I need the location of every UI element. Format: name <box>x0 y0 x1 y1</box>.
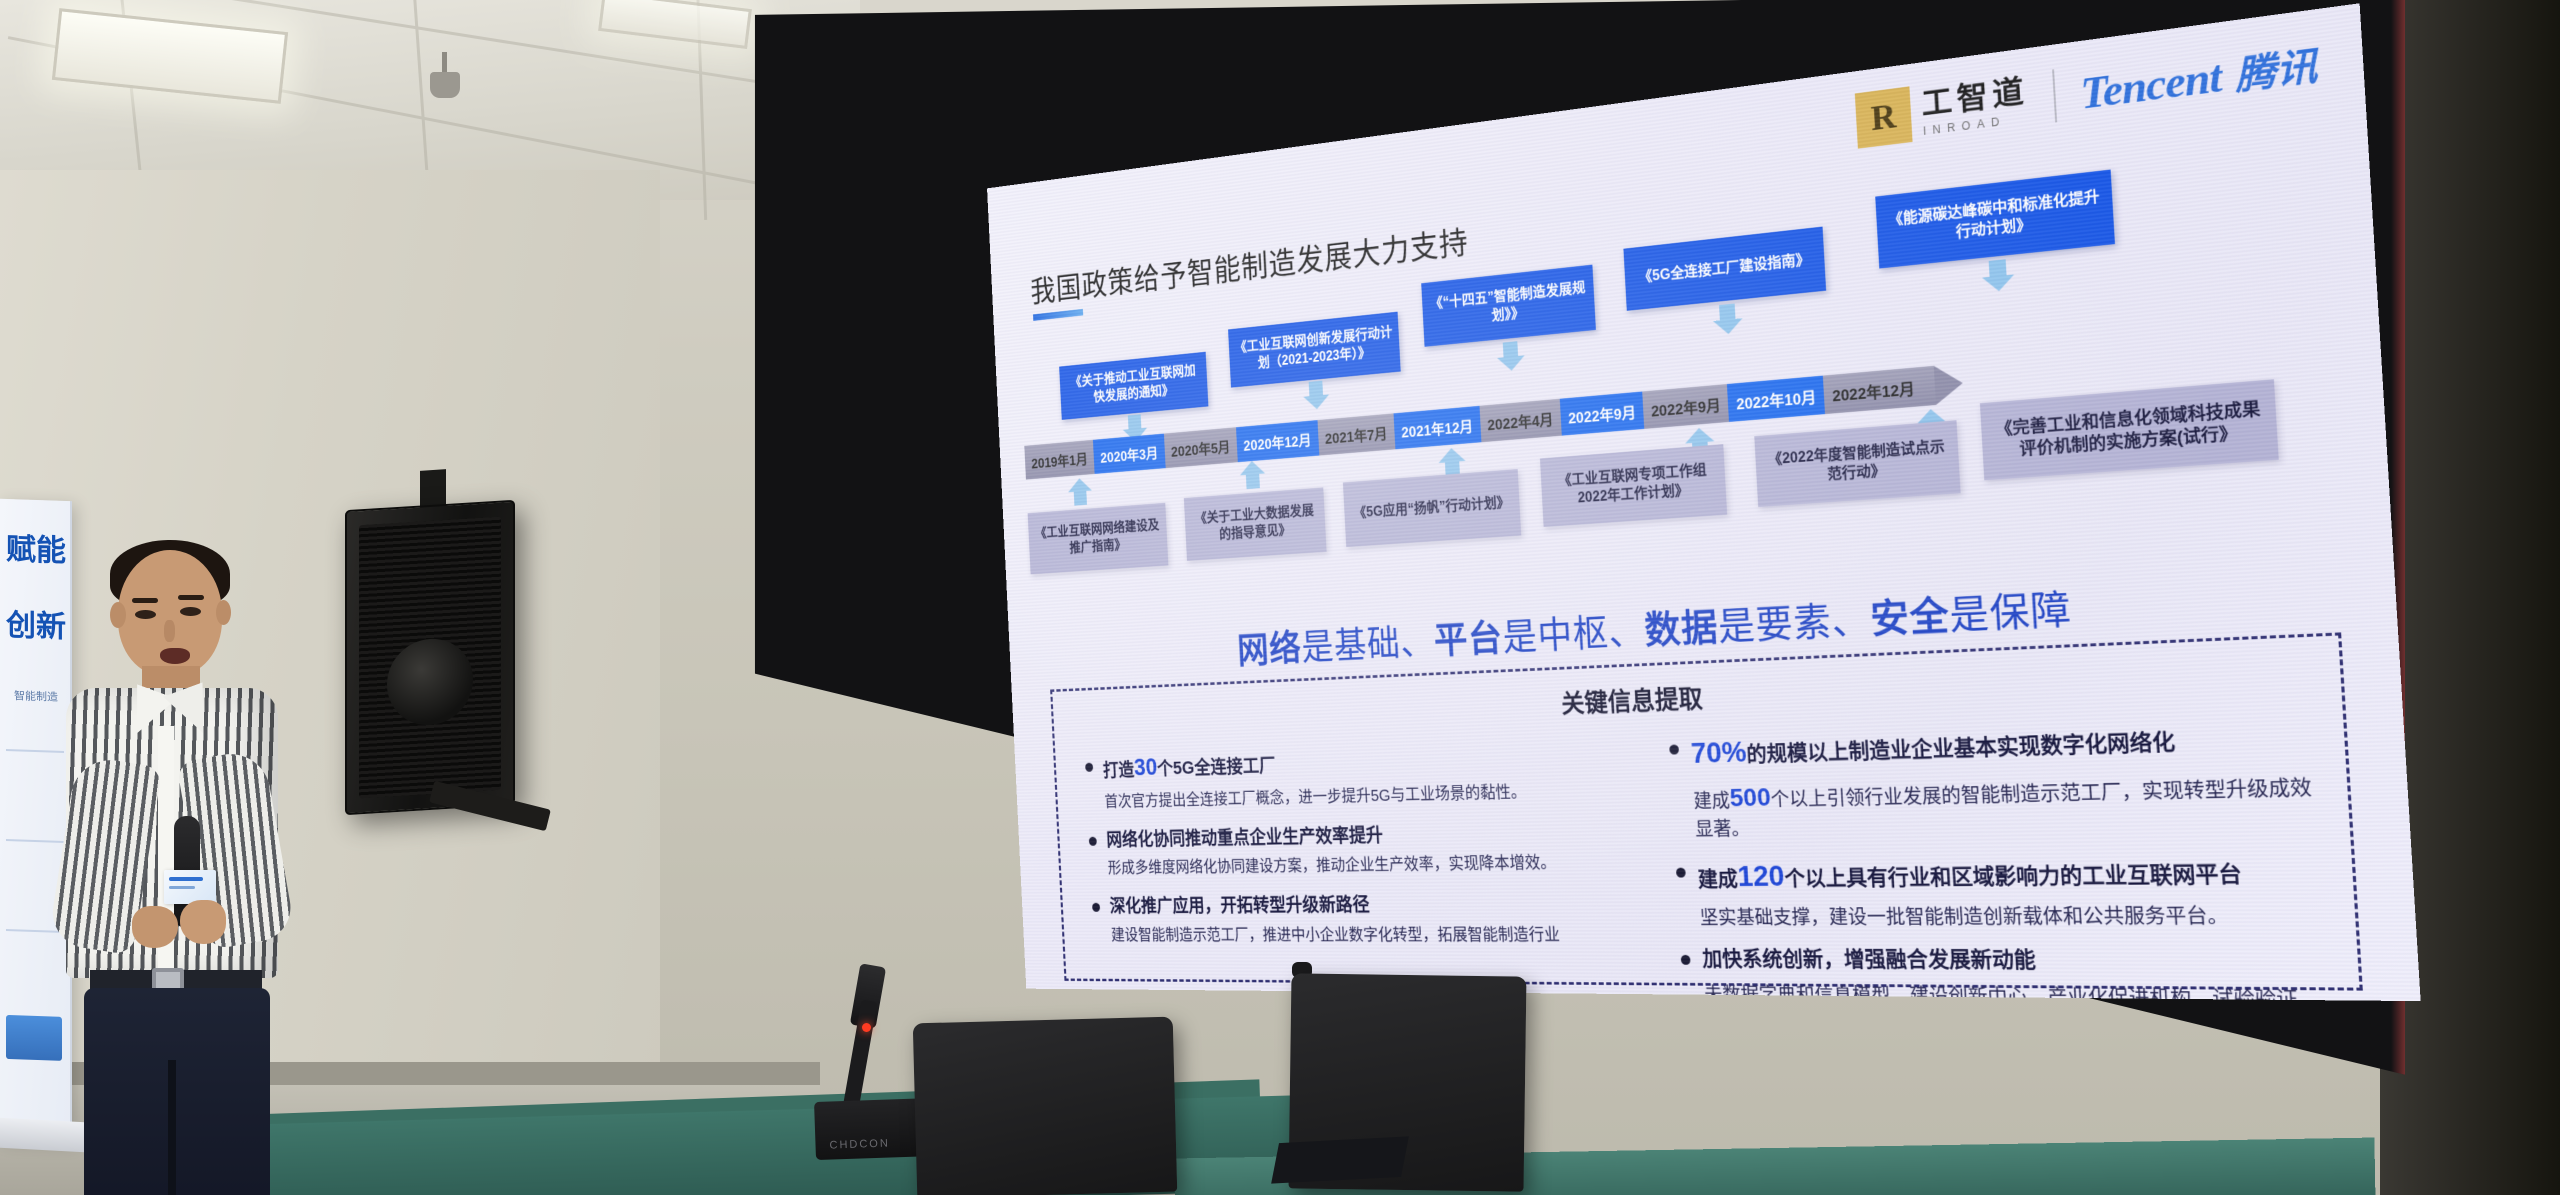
presenter-ear-right <box>216 600 231 625</box>
key-info-bullet: 打造30个5G全连接工厂 <box>1085 737 1610 786</box>
ceiling-sensor <box>430 72 460 98</box>
timeline-top-card: 《关于推动工业互联网加快发展的通知》 <box>1059 352 1208 420</box>
bullet-subtext: 坚实基础支撑，建设一批智能制造创新载体和公共服务平台。 <box>1699 901 2324 931</box>
timeline-date-segment: 2020年5月 <box>1164 427 1238 468</box>
timeline-date-segment: 2020年3月 <box>1093 434 1165 474</box>
presenter-eye-left <box>135 610 156 619</box>
bullet-heading-post: 个以上具有行业和区域影响力的工业互联网平台 <box>1784 861 2243 890</box>
tencent-logo-cn: 腾讯 <box>2233 34 2318 101</box>
timeline-date-segment: 2021年12月 <box>1393 406 1481 449</box>
timeline-date-segment: 2022年9月 <box>1560 391 1645 435</box>
logo-divider <box>2052 69 2057 122</box>
bullet-dot-icon <box>1676 867 1686 877</box>
bullet-heading-pre: 建成 <box>1697 867 1738 891</box>
timeline-top-cards: 《关于推动工业互联网加快发展的通知》 《工业互联网创新发展行动计划（2021-2… <box>1017 156 2342 425</box>
bullet-dot-icon <box>1669 744 1679 754</box>
presenter-trouser-seam <box>168 1060 176 1195</box>
headline-text-2: 是中枢、 <box>1502 610 1646 658</box>
presenter-brow-left <box>132 598 158 603</box>
timeline-date-segment: 2020年12月 <box>1236 420 1319 462</box>
policy-timeline: 《关于推动工业互联网加快发展的通知》 《工业互联网创新发展行动计划（2021-2… <box>1017 156 2356 618</box>
headline-text-4: 是保障 <box>1948 587 2073 637</box>
slide-logo-bar: R 工智道 INROAD Tencent 腾讯 <box>1855 33 2319 149</box>
presenter-trousers <box>84 988 270 1195</box>
key-info-bullet: 加快系统创新，增强融合发展新动能 <box>1680 945 2327 977</box>
timeline-arrow-down-icon <box>1981 258 2015 292</box>
bullet-dot-icon <box>1681 955 1691 965</box>
bullet-subtext-number: 500 <box>1729 783 1771 812</box>
laptop <box>1271 1136 1409 1183</box>
bullet-subtext-pre: 建成 <box>1693 790 1730 812</box>
headline-key-3: 数据 <box>1644 606 1720 652</box>
microphone-brand-label: CHDCON <box>829 1137 890 1151</box>
bullet-heading: 深化推广应用，开拓转型升级新路径 <box>1109 892 1370 918</box>
bullet-heading-number: 70% <box>1690 735 1747 769</box>
timeline-date-segment: 2019年1月 <box>1024 440 1094 480</box>
key-info-box: 关键信息提取 打造30个5G全连接工厂 首次官方提出全连接工厂概念，进一步提升5… <box>1050 632 2363 990</box>
bullet-heading-number: 30 <box>1133 754 1157 781</box>
bullet-heading: 网络化协同推动重点企业生产效率提升 <box>1106 822 1384 852</box>
timeline-arrow-down-icon <box>1712 303 1743 336</box>
bullet-dot-icon <box>1085 763 1093 772</box>
right-dark-wall <box>2380 0 2560 1195</box>
timeline-top-card: 《工业互联网创新发展行动计划（2021-2023年）》 <box>1228 312 1401 388</box>
timeline-bottom-card: 《工业互联网专项工作组2022年工作计划》 <box>1540 444 1727 527</box>
presenter-hand-left <box>132 906 178 948</box>
led-screen[interactable]: R 工智道 INROAD Tencent 腾讯 我国政策给予智能制造发展大力支持 <box>760 0 2390 1120</box>
timeline-bottom-card: 《工业互联网网络建设及推广指南》 <box>1028 503 1169 574</box>
bullet-subtext-post: 个以上引领行业发展的智能制造示范工厂，实现转型升级成效显著。 <box>1695 777 2313 840</box>
bullet-subtext: 首次官方提出全连接工厂概念，进一步提升5G与工业场景的黏性。 <box>1104 780 1611 815</box>
tencent-logo: Tencent 腾讯 <box>2079 34 2319 120</box>
bullet-heading-post: 的规模以上制造业企业基本实现数字化网络化 <box>1746 729 2176 766</box>
key-info-bullet: 建成120个以上具有行业和区域影响力的工业互联网平台 <box>1675 849 2322 896</box>
key-info-bullet: 网络化协同推动重点企业生产效率提升 <box>1088 817 1613 851</box>
bullet-heading-pre: 打造 <box>1103 759 1135 780</box>
presentation-room-photo: 赋能 创新 智能制造 R 工智道 INROAD <box>0 0 2560 1195</box>
presenter-ear-left <box>110 602 126 628</box>
headline-key-1: 网络 <box>1236 628 1302 671</box>
timeline-date-segment: 2022年12月 <box>1823 366 1936 414</box>
bullet-dot-icon <box>1092 903 1100 912</box>
timeline-top-card: 《5G全连接工厂建设指南》 <box>1623 227 1826 311</box>
timeline-date-segment: 2022年9月 <box>1642 384 1729 429</box>
inroad-logo: R 工智道 INROAD <box>1855 71 2031 149</box>
timeline-date-segment: 2022年10月 <box>1727 376 1825 422</box>
timeline-date-segment: 2022年4月 <box>1479 399 1561 442</box>
bullet-heading-number: 120 <box>1737 859 1786 892</box>
microphone-logo-flag <box>164 870 216 904</box>
timeline-top-card: 《能源碳达峰碳中和标准化提升行动计划》 <box>1875 170 2115 269</box>
bullet-heading: 打造30个5G全连接工厂 <box>1102 748 1276 786</box>
timeline-bottom-card: 《2022年度智能制造试点示范行动》 <box>1754 420 1960 507</box>
presenter-nose <box>164 620 175 642</box>
headline-key-2: 平台 <box>1433 617 1504 661</box>
presenter-hand-right <box>180 900 226 944</box>
bullet-subtext: 建设智能制造示范工厂，推进中小企业数字化转型，拓展智能制造行业 <box>1111 924 1620 948</box>
presenter <box>40 540 300 1195</box>
bullet-heading: 加快系统创新，增强融合发展新动能 <box>1702 945 2037 975</box>
key-info-left-column: 打造30个5G全连接工厂 首次官方提出全连接工厂概念，进一步提升5G与工业场景的… <box>1055 731 1648 1001</box>
bullet-subtext: 形成多维度网络化协同建设方案，推动企业生产效率，实现降本增效。 <box>1107 852 1615 881</box>
timeline-bottom-card: 《关于工业大数据发展的指导意见》 <box>1184 487 1327 560</box>
key-info-bullet: 深化推广应用，开拓转型升级新路径 <box>1092 890 1618 918</box>
headline-text-1: 是基础、 <box>1300 621 1435 668</box>
microphone-status-led <box>862 1023 871 1032</box>
timeline-top-card: 《“十四五”智能制造发展规划》》 <box>1421 265 1596 347</box>
bullet-heading-post: 个5G全连接工厂 <box>1157 754 1276 778</box>
presentation-slide: R 工智道 INROAD Tencent 腾讯 我国政策给予智能制造发展大力支持 <box>987 3 2421 1001</box>
wall-speaker <box>345 500 515 815</box>
inroad-logo-cn: 工智道 <box>1921 75 2030 120</box>
presenter-mouth <box>160 648 190 664</box>
bullet-subtext: 未数据字典和信息模型，建设创新中心、产业化促进机构、试验验证 <box>1704 982 2330 1002</box>
timeline-arrow-down-icon <box>1303 380 1330 410</box>
tencent-logo-en: Tencent <box>2079 51 2222 120</box>
chair <box>913 1017 1177 1195</box>
key-info-bullet: 70%的规模以上制造业企业基本实现数字化网络化 <box>1669 714 2315 774</box>
presenter-brow-right <box>178 595 204 600</box>
bullet-heading: 70%的规模以上制造业企业基本实现数字化网络化 <box>1690 718 2176 773</box>
presenter-eye-right <box>180 607 201 616</box>
bullet-heading: 建成120个以上具有行业和区域影响力的工业互联网平台 <box>1697 850 2243 896</box>
bullet-subtext: 建成500个以上引领行业发展的智能制造示范工厂，实现转型升级成效显著。 <box>1693 766 2319 843</box>
inroad-mark-icon: R <box>1855 86 1913 148</box>
key-info-right-column: 70%的规模以上制造业企业基本实现数字化网络化 建成500个以上引领行业发展的智… <box>1633 707 2362 1001</box>
timeline-bottom-card: 《完善工业和信息化领域科技成果评价机制的实施方案(试行》 <box>1980 379 2279 480</box>
timeline-date-segment: 2021年7月 <box>1317 413 1395 455</box>
headline-key-4: 安全 <box>1869 593 1950 641</box>
timeline-bottom-card: 《5G应用“扬帆”行动计划》 <box>1343 469 1521 547</box>
timeline-arrow-down-icon <box>1496 341 1525 372</box>
headline-text-3: 是要素、 <box>1717 598 1872 648</box>
bullet-dot-icon <box>1089 837 1097 846</box>
